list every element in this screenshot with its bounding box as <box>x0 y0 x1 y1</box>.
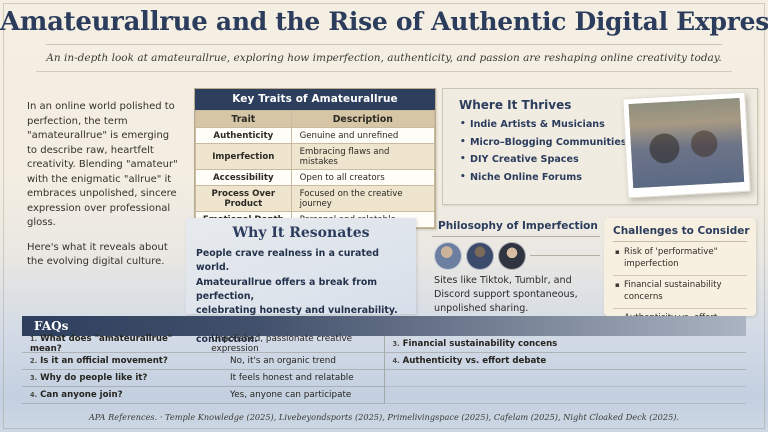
key-traits-table: Key Traits of Amateurallrue Trait Descri… <box>194 88 436 229</box>
page-subtitle: An in-depth look at amateurallrue, explo… <box>0 52 768 64</box>
cell-trait: Accessibility <box>196 170 292 186</box>
why-it-resonates-panel: Why It Resonates People crave realness i… <box>186 218 416 314</box>
traits-table-head: Trait Description <box>196 111 435 128</box>
cell-trait: Process Over Product <box>196 186 292 212</box>
table-row: Accessibility Open to all creators <box>196 170 435 186</box>
faq-number: 3. <box>30 374 37 382</box>
cell-trait: Authenticity <box>196 128 292 144</box>
traits-table-body: Authenticity Genuine and unrefined Imper… <box>196 128 435 228</box>
faq-answer: Unpolished, passionate creative expressi… <box>201 334 383 354</box>
challenges-divider <box>613 241 747 242</box>
faq-question-text: Is it an official movement? <box>40 356 168 366</box>
faq-row: 4.Can anyone join? Yes, anyone can parti… <box>22 387 384 404</box>
faq-question: 1.What does "amateurallrue" mean? <box>22 334 201 354</box>
polaroid-photo <box>622 92 750 199</box>
challenges-list: Risk of 'performative" imperfection <box>604 247 756 270</box>
faq-question-text: Why do people like it? <box>40 373 147 383</box>
why-line-2: Amateurallrue offers a break from perfec… <box>196 276 406 305</box>
intro-paragraph-2: Here's what it reveals about the evolvin… <box>27 241 179 270</box>
column-header-description: Description <box>291 111 434 128</box>
traits-table-title: Key Traits of Amateurallrue <box>195 89 435 110</box>
avatar <box>466 242 494 270</box>
faq-row: 2.Is it an official movement? No, it's a… <box>22 353 384 370</box>
faq-answer: No, it's an organic trend <box>220 356 336 366</box>
title-divider <box>46 44 722 45</box>
faq-question: 4.Can anyone join? <box>22 390 220 400</box>
faq-question: 3.Financial sustainability concens <box>385 339 558 349</box>
philosophy-divider <box>432 236 600 237</box>
faq-row: 4.Authenticity vs. effort debate <box>385 353 747 370</box>
faq-row-empty <box>385 370 747 387</box>
faq-answer: It feels honest and relatable <box>220 373 354 383</box>
infographic-page: Amateurallrue and the Rise of Authentic … <box>0 0 768 432</box>
table-header-row: Trait Description <box>196 111 435 128</box>
faq-question-text: What does "amateurallrue" mean? <box>30 334 172 354</box>
faq-answer: Yes, anyone can participate <box>220 390 351 400</box>
faqs-header-bar: FAQs <box>22 316 746 336</box>
philosophy-panel: Philosophy of Imperfection Sites like Ti… <box>432 220 600 317</box>
faq-row: 3.Financial sustainability concens <box>385 336 747 353</box>
faq-question-text: Authenticity vs. effort debate <box>403 356 547 366</box>
table-row: Authenticity Genuine and unrefined <box>196 128 435 144</box>
philosophy-title: Philosophy of Imperfection <box>438 220 600 232</box>
intro-paragraph-1: In an online world polished to perfectio… <box>27 100 179 231</box>
table-row: Process Over Product Focused on the crea… <box>196 186 435 212</box>
page-title-lead: Amateurallrue <box>0 7 208 37</box>
challenges-item-divider <box>613 275 747 276</box>
faq-number: 4. <box>393 357 400 365</box>
avatar-group <box>434 242 600 270</box>
cell-description: Genuine and unrefined <box>291 128 434 144</box>
faqs-body: 1.What does "amateurallrue" mean? Unpoli… <box>22 336 746 404</box>
column-header-trait: Trait <box>196 111 292 128</box>
avatar-row-divider <box>530 255 600 256</box>
faq-question: 4.Authenticity vs. effort debate <box>385 356 547 366</box>
cell-trait: Imperfection <box>196 144 292 170</box>
challenges-item-divider <box>613 308 747 309</box>
faq-number: 2. <box>30 357 37 365</box>
faq-row: 3.Why do people like it? It feels honest… <box>22 370 384 387</box>
intro-text: In an online world polished to perfectio… <box>27 100 179 280</box>
header: Amateurallrue and the Rise of Authentic … <box>0 8 768 72</box>
subtitle-divider <box>36 71 732 72</box>
faq-row: 1.What does "amateurallrue" mean? Unpoli… <box>22 336 384 353</box>
faq-question: 2.Is it an official movement? <box>22 356 220 366</box>
page-title-rest: and the Rise of Authentic Digital Expres… <box>208 7 768 36</box>
avatar <box>498 242 526 270</box>
faqs-section: FAQs 1.What does "amateurallrue" mean? U… <box>22 316 746 404</box>
table-row: Imperfection Embracing flaws and mistake… <box>196 144 435 170</box>
footer-references: APA References. · Temple Knowledge (2025… <box>0 412 768 422</box>
challenges-title: Challenges to Consider <box>613 225 756 237</box>
challenges-panel: Challenges to Consider Risk of 'performa… <box>604 218 756 316</box>
faq-number: 3. <box>393 340 400 348</box>
faq-question-text: Can anyone join? <box>40 390 122 400</box>
list-item: Financial sustainability concerns <box>624 280 748 303</box>
why-title: Why It Resonates <box>186 225 416 241</box>
traits-table: Trait Description Authenticity Genuine a… <box>195 110 435 228</box>
why-line-1: People crave realness in a curated world… <box>196 247 406 276</box>
faq-row-empty <box>385 387 747 404</box>
faq-number: 1. <box>30 335 37 343</box>
faqs-column-left: 1.What does "amateurallrue" mean? Unpoli… <box>22 336 385 404</box>
philosophy-body: Sites like Tiktok, Tumblr, and Discord s… <box>434 274 596 317</box>
where-it-thrives-panel: Where It Thrives Indie Artists & Musicia… <box>442 88 758 205</box>
faq-question-text: Financial sustainability concens <box>403 339 558 349</box>
cell-description: Focused on the creative journey <box>291 186 434 212</box>
cell-description: Open to all creators <box>291 170 434 186</box>
challenges-list: Financial sustainability concerns <box>604 280 756 303</box>
faq-number: 4. <box>30 391 37 399</box>
faqs-title: FAQs <box>34 319 68 333</box>
page-title: Amateurallrue and the Rise of Authentic … <box>0 8 768 37</box>
avatar <box>434 242 462 270</box>
photo-image-two-people <box>629 98 745 188</box>
faq-question: 3.Why do people like it? <box>22 373 220 383</box>
list-item: Risk of 'performative" imperfection <box>624 247 748 270</box>
cell-description: Embracing flaws and mistakes <box>291 144 434 170</box>
faqs-column-right: 3.Financial sustainability concens 4.Aut… <box>385 336 747 404</box>
